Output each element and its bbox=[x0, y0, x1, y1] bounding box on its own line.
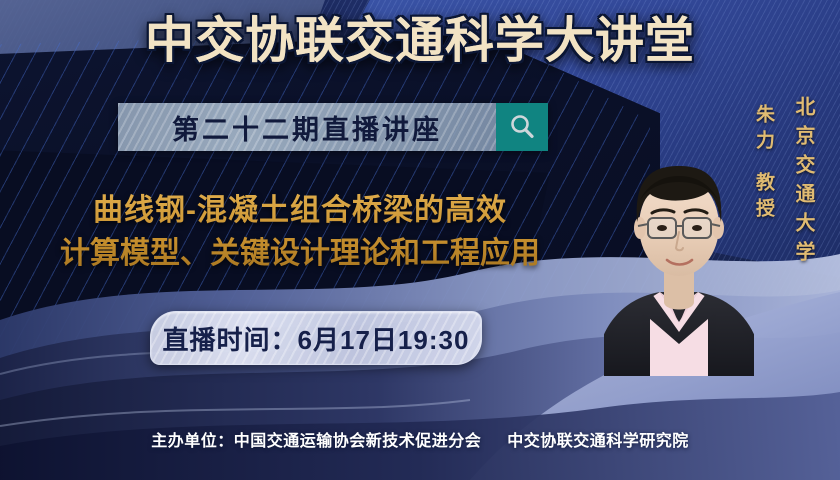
episode-label: 第二十二期直播讲座 bbox=[172, 108, 442, 147]
lecture-title-line1: 曲线钢-混凝土组合桥梁的高效 bbox=[93, 194, 507, 227]
episode-banner: 第二十二期直播讲座 bbox=[118, 103, 548, 151]
organizer-label: 主办单位： bbox=[151, 433, 234, 450]
lecture-title: 曲线钢-混凝土组合桥梁的高效 计算模型、关键设计理论和工程应用 bbox=[0, 190, 600, 275]
speaker-photo bbox=[604, 126, 754, 376]
lecture-poster: 中交协联交通科学大讲堂 第二十二期直播讲座 曲线钢-混凝土组合桥梁的高效 计算模… bbox=[0, 0, 840, 480]
speaker-affiliation: 北京交通大学 bbox=[789, 96, 818, 270]
lecture-title-line2: 计算模型、关键设计理论和工程应用 bbox=[0, 233, 600, 276]
broadcast-time-text: 直播时间：6月17日19:30 bbox=[163, 320, 470, 357]
speaker-name: 朱力 bbox=[750, 104, 777, 156]
broadcast-time-badge: 直播时间：6月17日19:30 bbox=[150, 311, 482, 365]
episode-banner-body: 第二十二期直播讲座 bbox=[118, 103, 496, 151]
search-icon[interactable] bbox=[496, 103, 548, 151]
page-title: 中交协联交通科学大讲堂 bbox=[0, 16, 840, 67]
organizer-line: 主办单位：中国交通运输协会新技术促进分会中交协联交通科学研究院 bbox=[0, 427, 840, 451]
speaker-role: 教授 bbox=[750, 172, 777, 224]
organizer-name-2: 中交协联交通科学研究院 bbox=[507, 433, 689, 450]
organizer-name-1: 中国交通运输协会新技术促进分会 bbox=[234, 433, 482, 450]
